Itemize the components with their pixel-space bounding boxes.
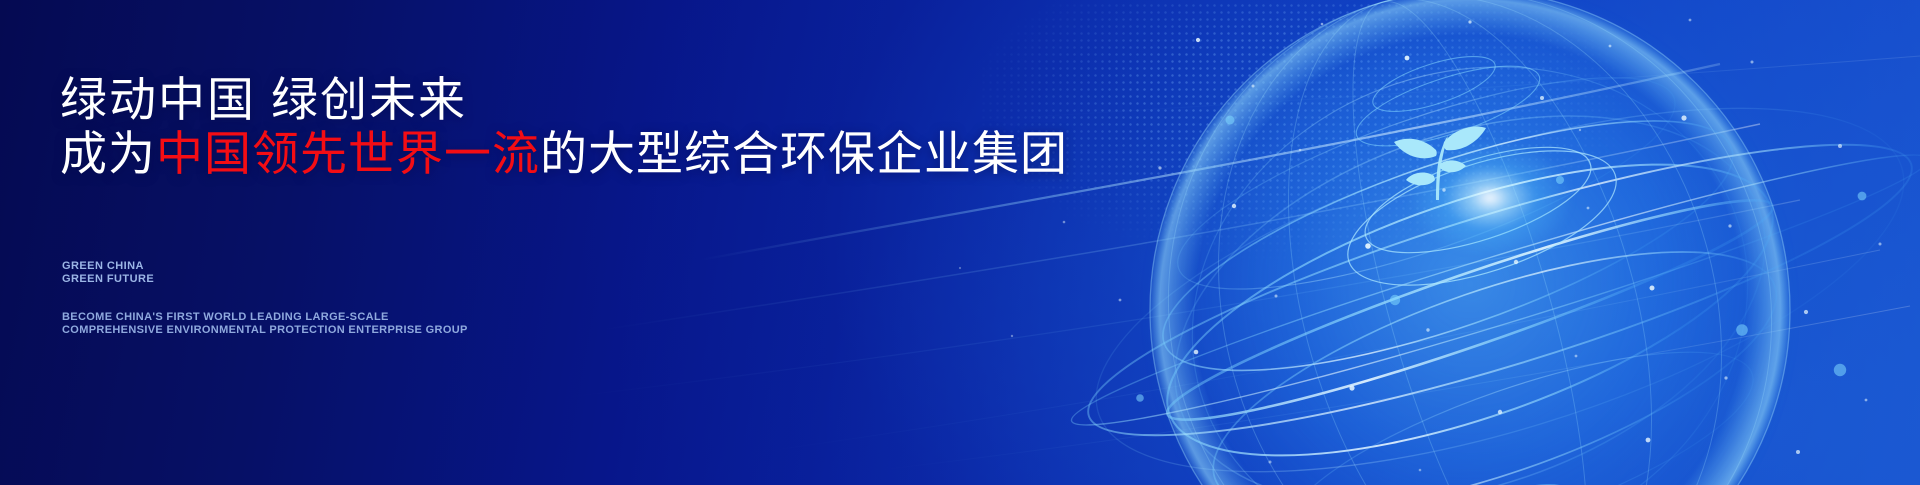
halftone-texture [980, 0, 1680, 290]
tagline-english-line1: BECOME CHINA'S FIRST WORLD LEADING LARGE… [62, 311, 468, 324]
subtitle-english-line2: GREEN FUTURE [62, 273, 154, 286]
subtitle-english: GREEN CHINA GREEN FUTURE [62, 260, 154, 286]
hero-banner: 绿动中国 绿创未来 成为中国领先世界一流的大型综合环保企业集团 GREEN CH… [0, 0, 1920, 485]
headline-secondary-highlight: 中国领先世界一流 [156, 127, 540, 180]
globe-rings [1030, 0, 1920, 485]
headline-secondary: 成为中国领先世界一流的大型综合环保企业集团 [60, 130, 1068, 177]
headline-secondary-prefix: 成为 [60, 127, 156, 180]
headline-secondary-suffix: 的大型综合环保企业集团 [540, 127, 1068, 180]
subtitle-english-line1: GREEN CHINA [62, 260, 154, 273]
tagline-english-line2: COMPREHENSIVE ENVIRONMENTAL PROTECTION E… [62, 324, 468, 337]
globe-glow [1150, 0, 1790, 485]
globe-core-flare [1405, 138, 1575, 258]
tagline-english: BECOME CHINA'S FIRST WORLD LEADING LARGE… [62, 311, 468, 337]
sprout-leaf-icon [1382, 112, 1490, 208]
glowing-globe-graphic [1030, 0, 1920, 485]
banner-copy: 绿动中国 绿创未来 成为中国领先世界一流的大型综合环保企业集团 GREEN CH… [60, 0, 1060, 485]
headline-primary: 绿动中国 绿创未来 [60, 76, 467, 123]
